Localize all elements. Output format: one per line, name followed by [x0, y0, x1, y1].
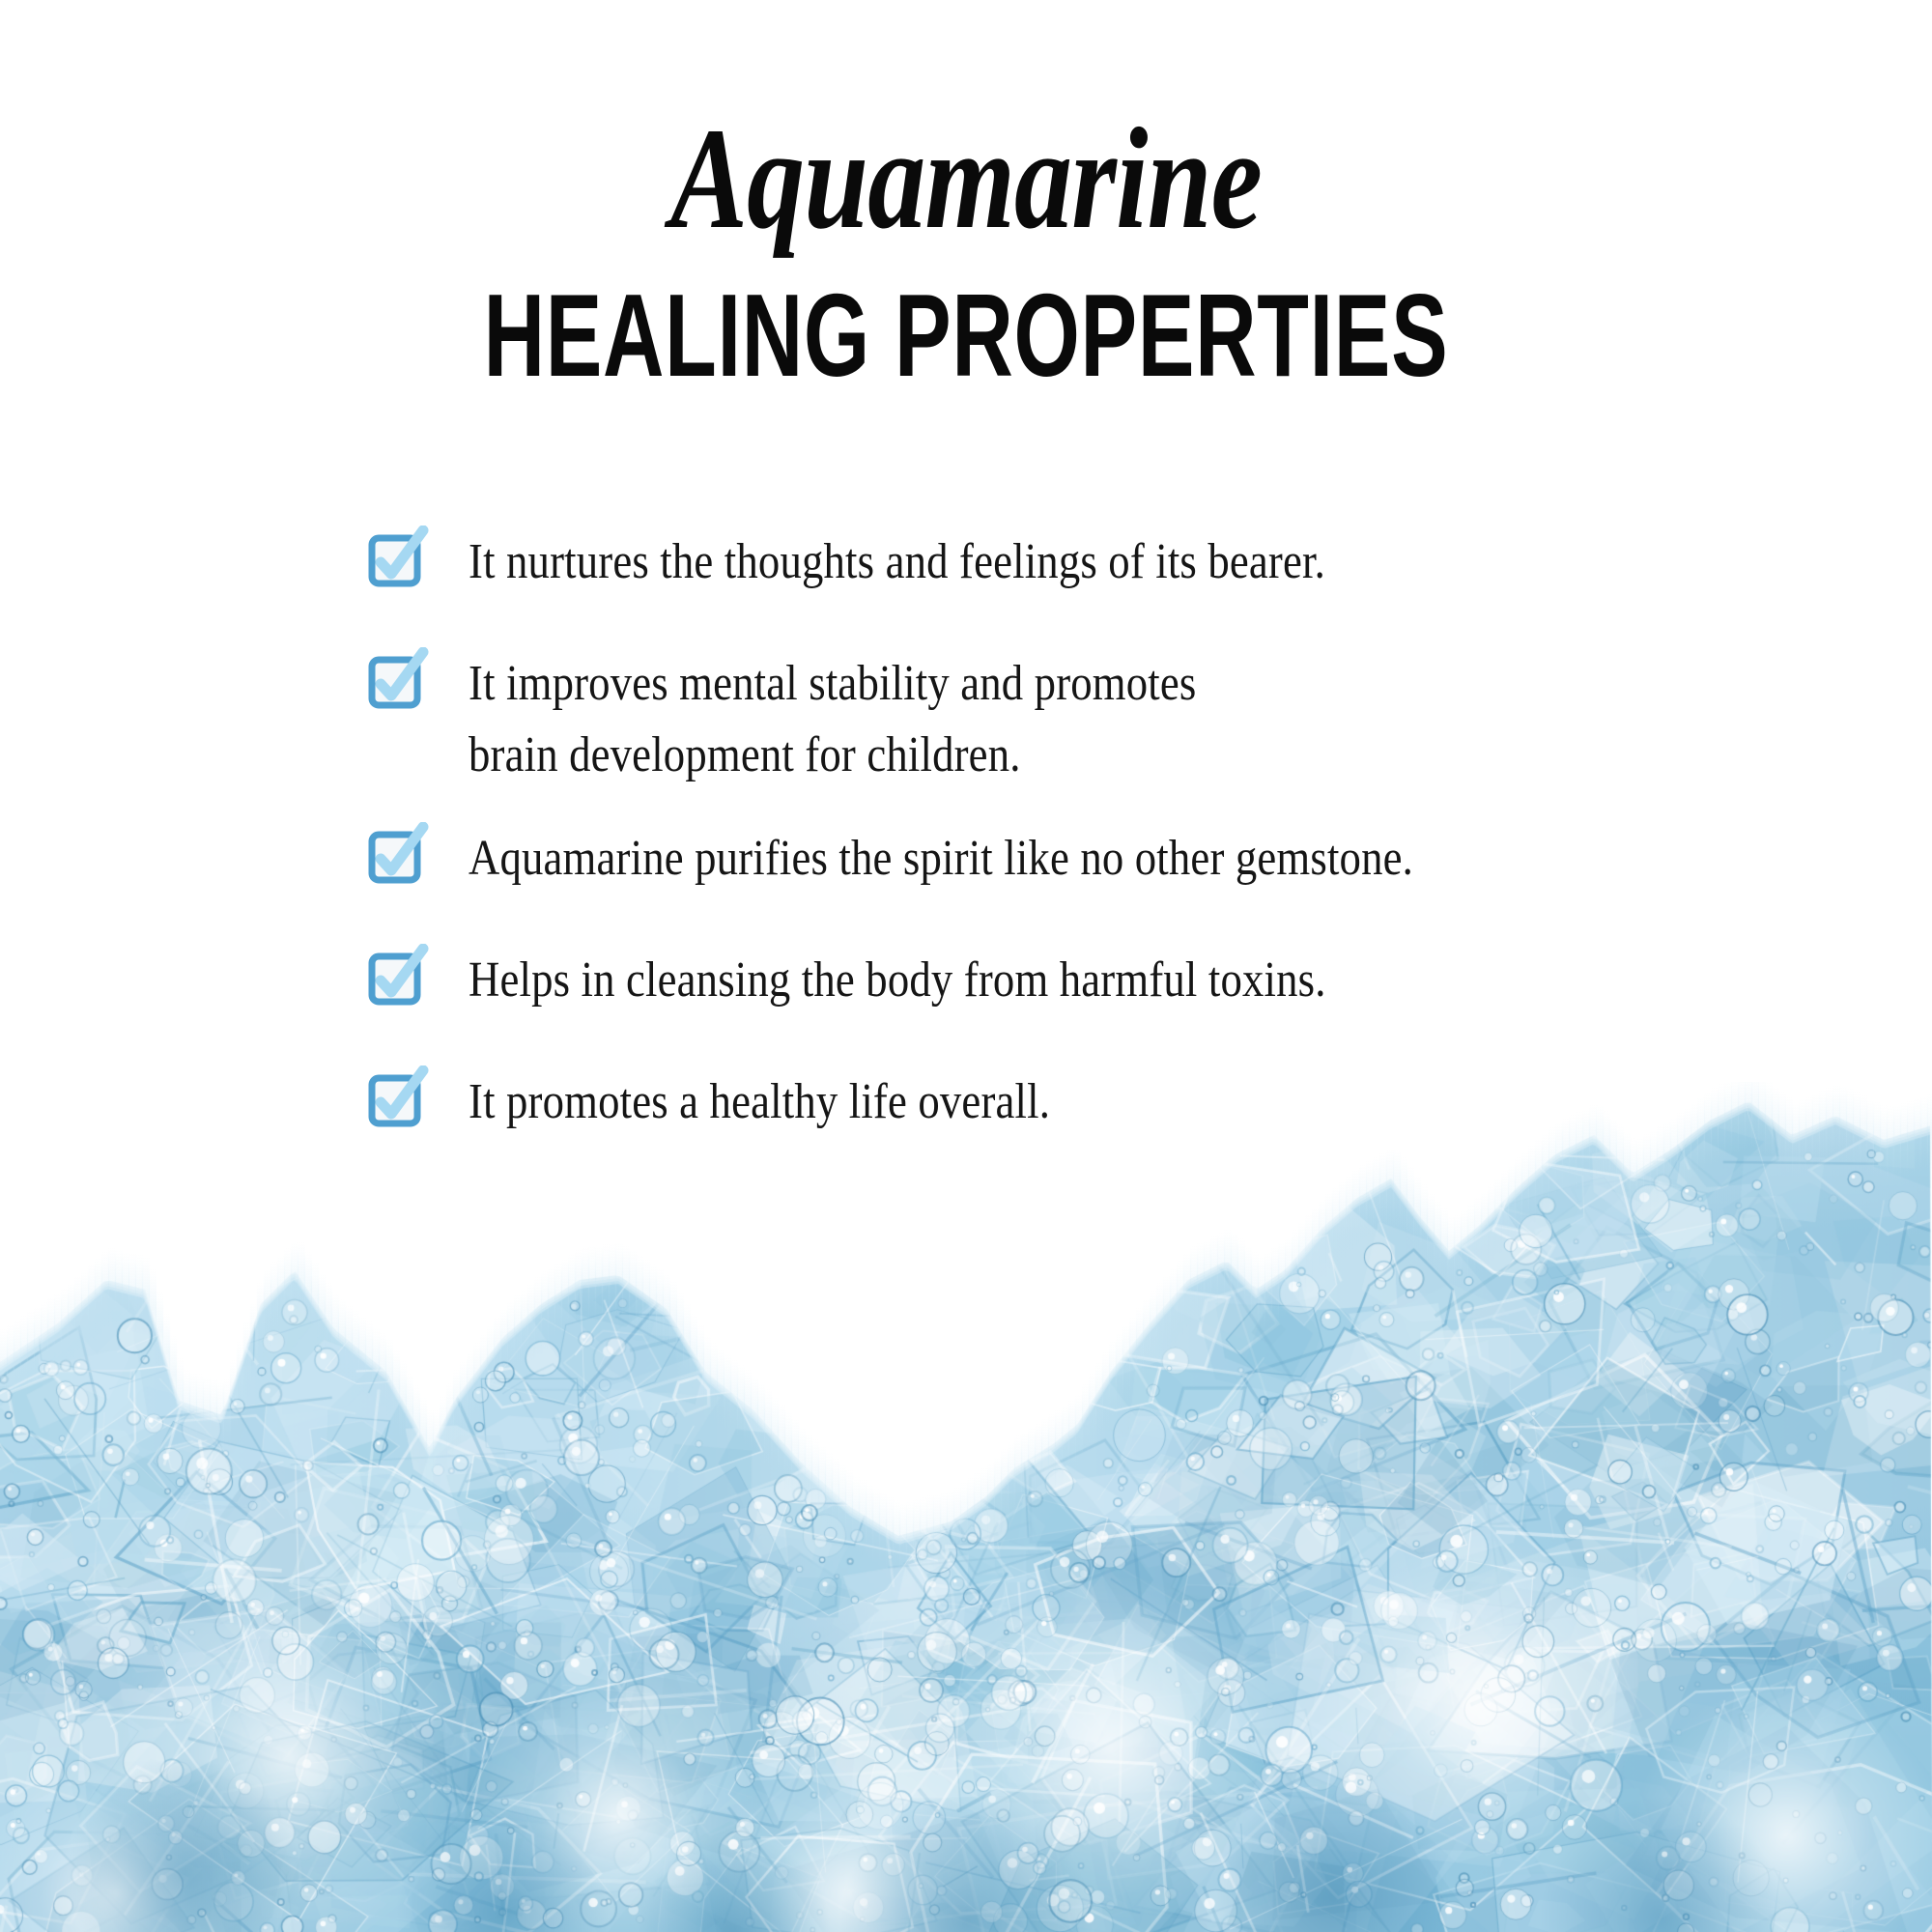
- list-item-label: It nurtures the thoughts and feelings of…: [469, 526, 1325, 598]
- poster-root: Aquamarine HEALING PROPERTIES It nurture…: [0, 0, 1932, 1932]
- list-item[interactable]: It promotes a healthy life overall.: [372, 1066, 1773, 1138]
- checkbox-checked-icon[interactable]: [372, 829, 422, 879]
- page-title: Aquamarine: [193, 0, 1739, 251]
- list-item-label: Helps in cleansing the body from harmful…: [469, 945, 1326, 1016]
- list-item-label: Aquamarine purifies the spirit like no o…: [469, 823, 1413, 895]
- checkbox-checked-icon[interactable]: [372, 654, 422, 704]
- checkbox-checked-icon[interactable]: [372, 532, 422, 582]
- healing-properties-list: It nurtures the thoughts and feelings of…: [372, 526, 1773, 1188]
- poster-header: Aquamarine HEALING PROPERTIES: [0, 0, 1932, 394]
- list-item[interactable]: It nurtures the thoughts and feelings of…: [372, 526, 1773, 598]
- list-item[interactable]: Helps in cleansing the body from harmful…: [372, 945, 1773, 1016]
- checkbox-checked-icon[interactable]: [372, 951, 422, 1001]
- ice-cubes-canvas: [0, 1082, 1932, 1932]
- list-item-label: It improves mental stability and promote…: [469, 648, 1196, 791]
- list-item[interactable]: It improves mental stability and promote…: [372, 648, 1773, 791]
- page-subtitle: HEALING PROPERTIES: [270, 251, 1662, 394]
- list-item[interactable]: Aquamarine purifies the spirit like no o…: [372, 823, 1773, 895]
- ice-cubes-photo: [0, 1082, 1932, 1932]
- list-item-label: It promotes a healthy life overall.: [469, 1066, 1050, 1138]
- checkbox-checked-icon[interactable]: [372, 1072, 422, 1122]
